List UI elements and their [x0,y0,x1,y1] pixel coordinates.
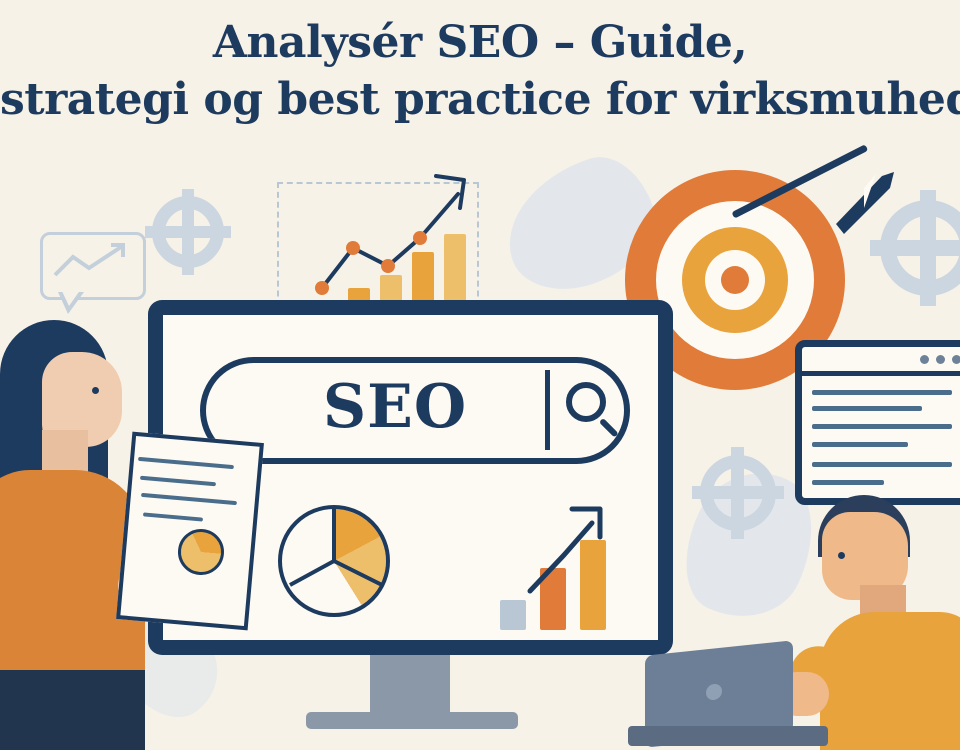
page-title: Analysér SEO – Guide, strategi og best p… [0,14,960,128]
browser-content-line [812,406,922,411]
browser-content-line [812,442,908,447]
monitor-stand [370,652,450,714]
magnifier-icon[interactable] [566,382,606,422]
laptop-base [628,726,828,746]
gear-icon [152,196,224,268]
eye [92,387,99,394]
search-divider [545,370,550,450]
illustration-scene: Analysér SEO – Guide, strategi og best p… [0,0,960,750]
headline-line-1: Analysér SEO – Guide, [0,14,960,71]
monitor-base [306,712,518,729]
browser-dot [952,355,960,364]
browser-content-line [812,390,952,395]
arrow-fletching-icon [820,168,910,248]
browser-dot [920,355,929,364]
sparkline-icon [43,235,137,291]
headline-line-2: strategi og best practice for virksmuhed… [0,71,960,128]
gear-icon [700,455,776,531]
speech-bubble-tail-inner [61,289,81,306]
browser-content-line [812,462,952,467]
target-bullseye [721,266,749,294]
growth-arrow-icon [520,495,630,605]
browser-content-line [812,480,884,485]
eye [838,552,845,559]
browser-dot [936,355,945,364]
search-query-text: SEO [250,372,540,442]
speech-bubble-icon [40,232,146,300]
browser-content-line [812,424,952,429]
monitor-pie-spokes [274,501,394,621]
